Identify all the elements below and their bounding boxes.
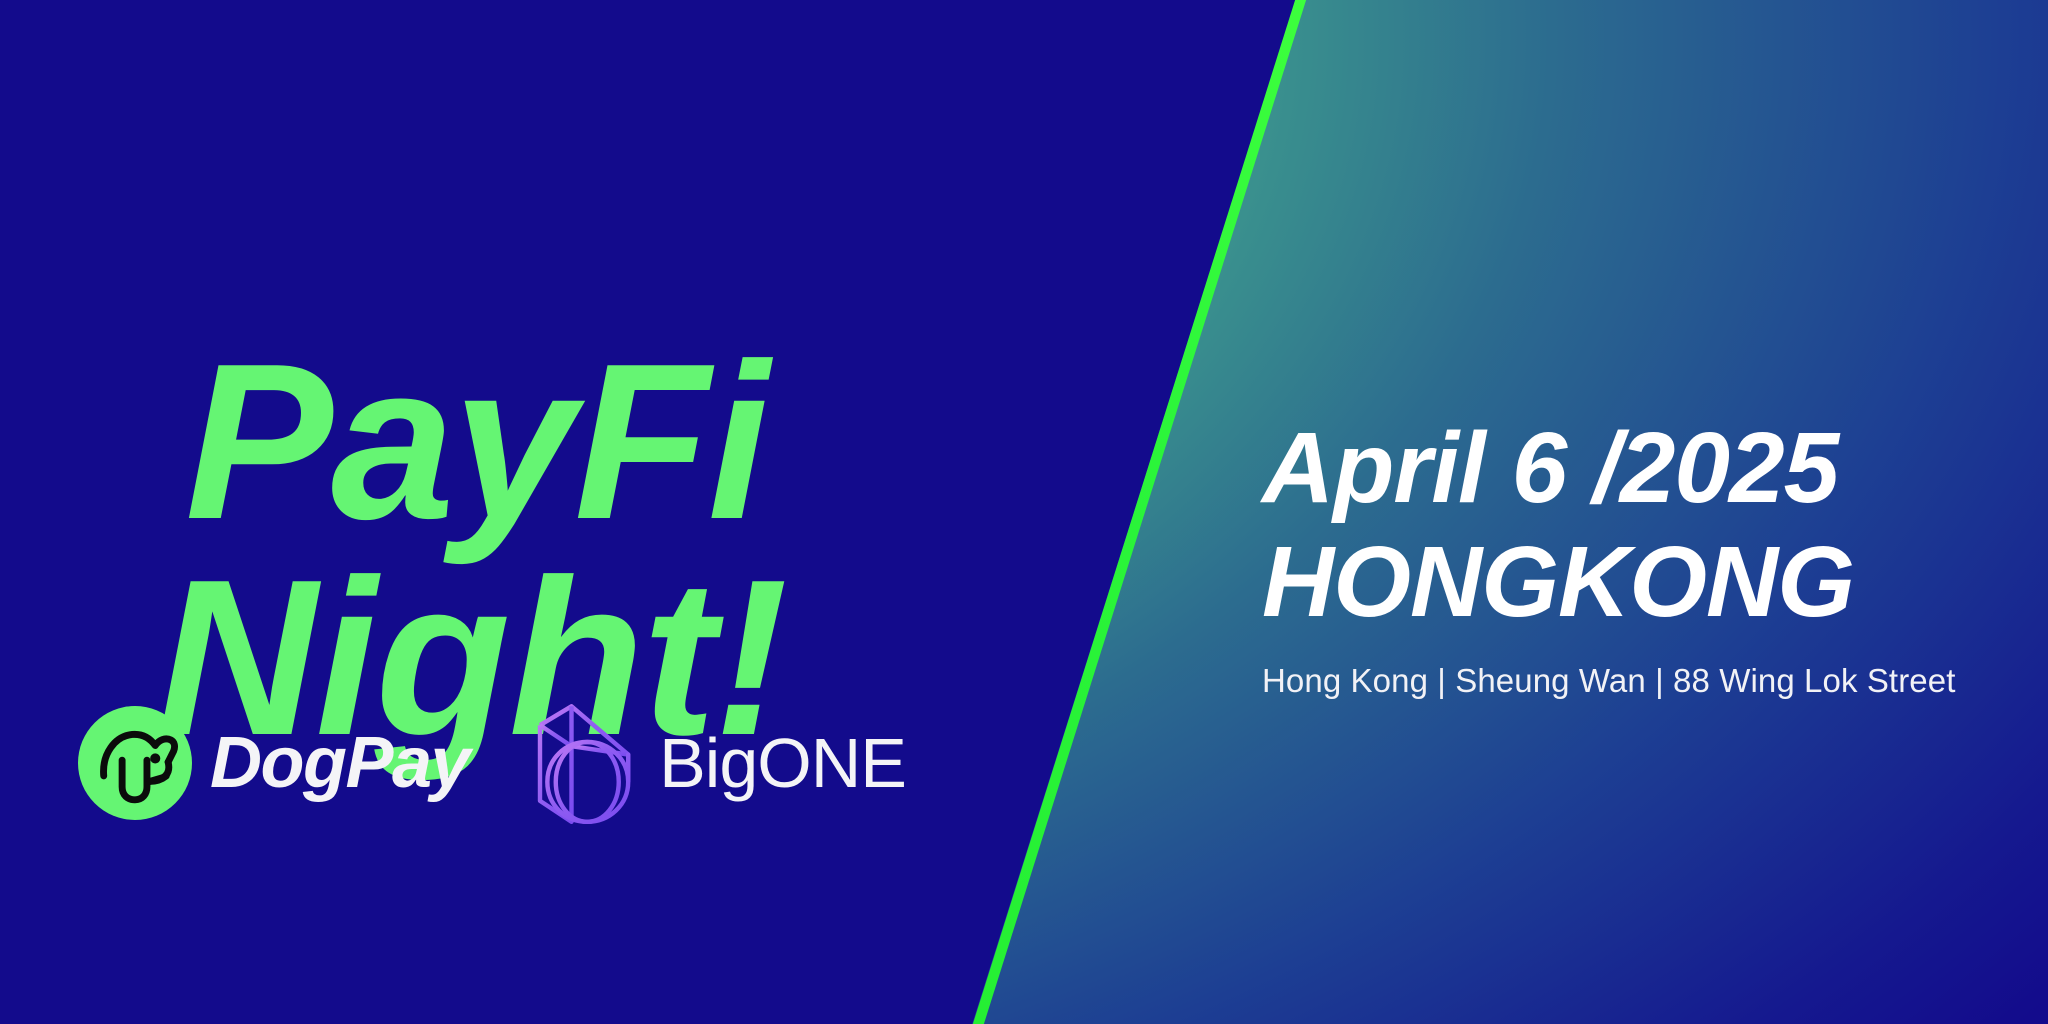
event-address: Hong Kong | Sheung Wan | 88 Wing Lok Str… [1262, 662, 2022, 700]
bigone-b-monogram-icon [527, 700, 637, 826]
partner-logo-dogpay[interactable]: DogPay [78, 706, 469, 820]
page-title: PayFi Night! [185, 120, 1005, 981]
partner-logo-bigone[interactable]: BigONE [527, 700, 906, 826]
headline-line-1: PayFi [185, 318, 767, 566]
partner-logo-row: DogPay [78, 700, 906, 826]
event-details-block: April 6 /2025 HONGKONG Hong Kong | Sheun… [1262, 418, 2022, 700]
payfi-night-banner: PayFi Night! DogPay [0, 0, 2048, 1024]
left-content-column: PayFi Night! DogPay [0, 0, 1000, 1024]
event-date: April 6 /2025 [1262, 418, 2022, 518]
dog-face-icon [89, 717, 181, 809]
event-city: HONGKONG [1262, 532, 2022, 632]
dogpay-wordmark: DogPay [210, 727, 469, 799]
dog-eye-icon [150, 753, 160, 763]
bigone-wordmark: BigONE [659, 728, 906, 798]
dogpay-badge [78, 706, 192, 820]
